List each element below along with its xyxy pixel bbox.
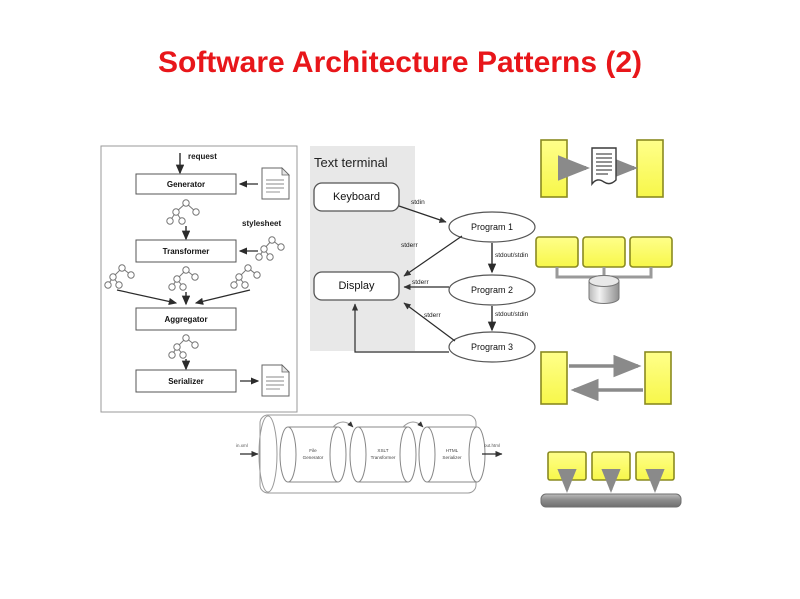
pipeline-stage-aggregator-label: Aggregator	[164, 315, 207, 324]
device-keyboard[interactable]: Keyboard	[314, 183, 399, 211]
pipeline-stage-generator[interactable]: Generator	[136, 174, 236, 194]
stream-label-stderr-1: stderr	[401, 242, 418, 249]
stream-label-stdin-1: stdin	[411, 199, 425, 206]
pipeline-stage-serializer[interactable]: Serializer	[136, 370, 236, 392]
request-label: request	[188, 152, 217, 161]
cylinder-stage-html-serializer-line1: HTML	[446, 448, 459, 455]
device-keyboard-label: Keyboard	[333, 191, 380, 203]
pipeline-stage-generator-label: Generator	[167, 180, 205, 189]
device-display-label: Display	[338, 280, 374, 292]
pipeline-stage-serializer-label: Serializer	[168, 377, 204, 386]
pipeline-stage-transformer-label: Transformer	[163, 247, 210, 256]
stylesheet-label: stylesheet	[242, 219, 281, 228]
slide-canvas: Software Architecture Patterns (2)	[0, 0, 800, 599]
cylinder-stage-xslt-transformer-line2: Transformer	[371, 455, 396, 462]
cylinder-stage-html-serializer-line2: Serializer	[442, 455, 461, 462]
cylinder-stage-file-generator-line1: File	[309, 448, 316, 455]
cylinder-stage-xslt-transformer-line1: XSLT	[377, 448, 388, 455]
program-1[interactable]: Program 1	[449, 213, 535, 241]
pipeline-stage-transformer[interactable]: Transformer	[136, 240, 236, 262]
cylinder-stage-xslt-transformer[interactable]: XSLT Transformer	[360, 440, 406, 470]
stream-label-stderr-3: stderr	[424, 312, 441, 319]
program-1-label: Program 1	[471, 222, 513, 232]
device-display[interactable]: Display	[314, 272, 399, 300]
cylinder-stage-file-generator-line2: Generator	[303, 455, 324, 462]
stream-label-stdout-stdin-2: stdout/stdin	[495, 311, 528, 318]
program-2[interactable]: Program 2	[449, 276, 535, 304]
cylinder-pipeline-input-port: in.xml	[236, 443, 248, 448]
program-3-label: Program 3	[471, 342, 513, 352]
program-3[interactable]: Program 3	[449, 333, 535, 361]
stream-label-stderr-2: stderr	[412, 279, 429, 286]
program-2-label: Program 2	[471, 285, 513, 295]
cylinder-stage-html-serializer[interactable]: HTML Serializer	[429, 440, 475, 470]
cylinder-pipeline-output-port: out.html	[484, 443, 500, 448]
text-terminal-title: Text terminal	[314, 155, 388, 170]
diagram-graphics-layer	[0, 0, 800, 599]
cylinder-stage-file-generator[interactable]: File Generator	[290, 440, 336, 470]
pipeline-stage-aggregator[interactable]: Aggregator	[136, 308, 236, 330]
stream-label-stdout-stdin-1: stdout/stdin	[495, 252, 528, 259]
